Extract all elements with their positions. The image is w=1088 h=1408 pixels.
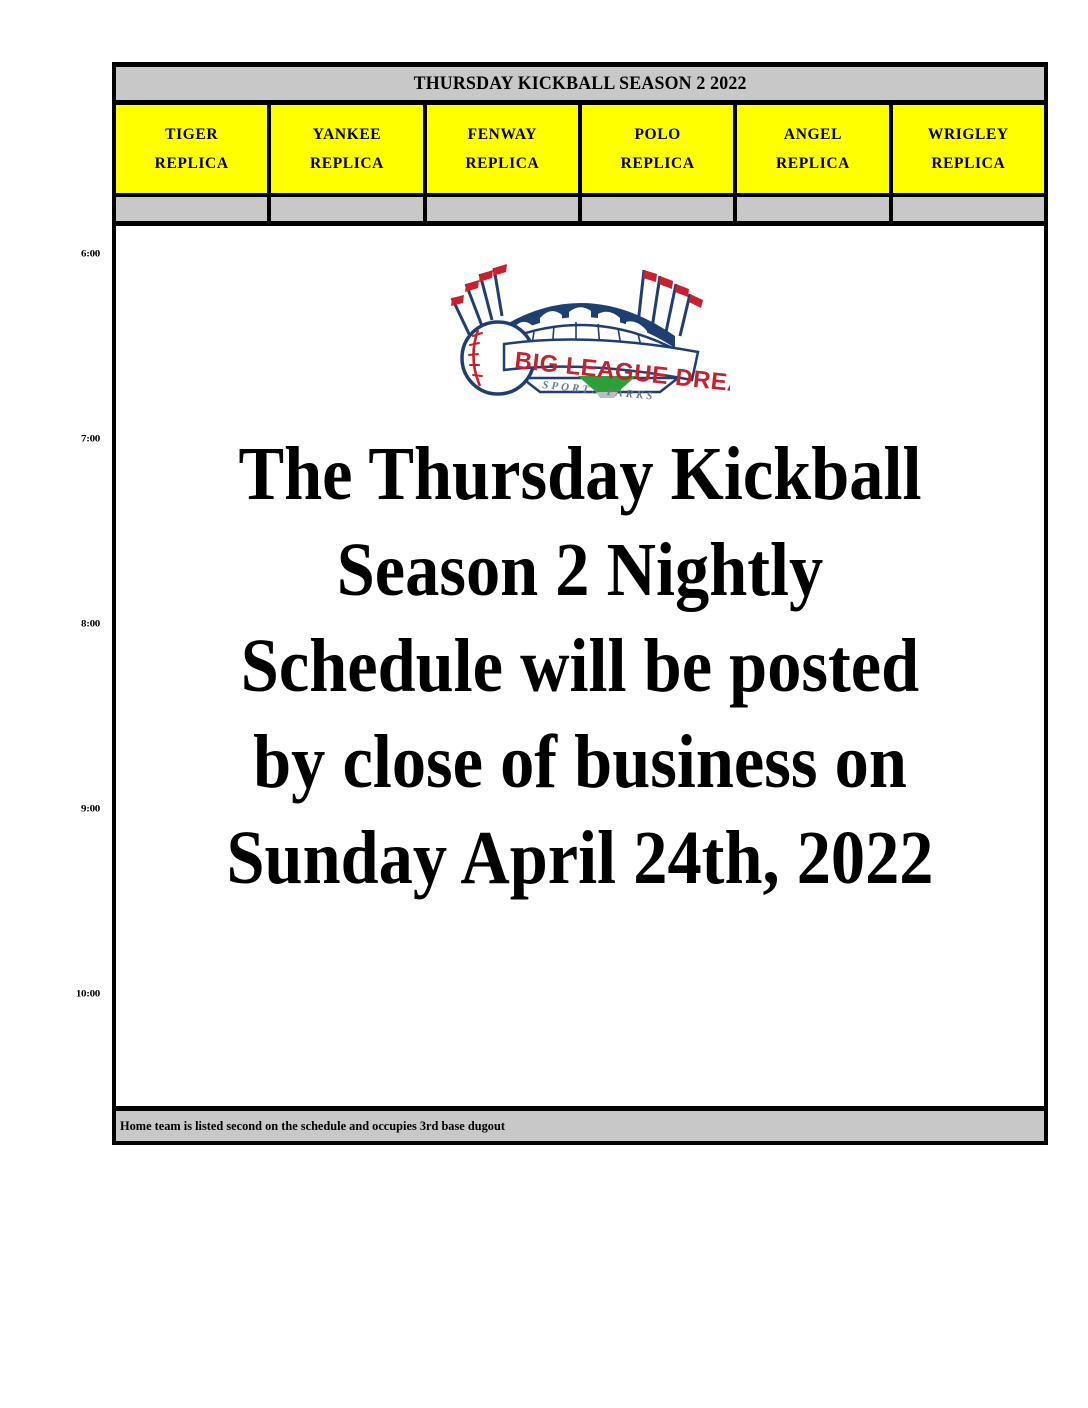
announcement-line: Season 2 Nightly xyxy=(170,522,991,618)
time-label: 10:00 xyxy=(76,989,100,1000)
footer-note-row: Home team is listed second on the schedu… xyxy=(116,1106,1044,1141)
schedule-table: THURSDAY KICKBALL SEASON 2 2022 TIGERREP… xyxy=(112,62,1048,1145)
field-header-fenway[interactable]: FENWAYREPLICA xyxy=(427,105,582,193)
field-name: TIGER xyxy=(165,127,218,143)
field-name: YANKEE xyxy=(313,127,382,143)
field-subheader-polo xyxy=(582,197,737,221)
time-label: 9:00 xyxy=(81,804,100,815)
big-league-dreams-logo-icon: BIG LEAGUE DREAMS SPORTS PARKS xyxy=(430,240,730,400)
field-type: REPLICA xyxy=(465,156,539,172)
field-subheader-row xyxy=(116,197,1044,226)
announcement-message: The Thursday KickballSeason 2 NightlySch… xyxy=(124,426,1036,906)
field-type: REPLICA xyxy=(155,156,229,172)
logo-container: BIG LEAGUE DREAMS SPORTS PARKS xyxy=(116,240,1044,400)
announcement-line: Schedule will be posted xyxy=(170,618,991,714)
field-header-wrigley[interactable]: WRIGLEYREPLICA xyxy=(893,105,1044,193)
announcement-line: Sunday April 24th, 2022 xyxy=(170,810,991,906)
field-type: REPLICA xyxy=(310,156,384,172)
field-name: ANGEL xyxy=(784,127,842,143)
field-subheader-fenway xyxy=(427,197,582,221)
time-axis-gutter: 6:007:008:009:0010:00 xyxy=(0,215,112,1115)
field-subheader-yankee xyxy=(271,197,426,221)
field-header-polo[interactable]: POLOREPLICA xyxy=(582,105,737,193)
time-label: 8:00 xyxy=(81,619,100,630)
field-header-row: TIGERREPLICAYANKEEREPLICAFENWAYREPLICAPO… xyxy=(116,105,1044,197)
field-header-tiger[interactable]: TIGERREPLICA xyxy=(116,105,271,193)
announcement-line: The Thursday Kickball xyxy=(170,426,991,522)
field-type: REPLICA xyxy=(931,156,1005,172)
announcement-line: by close of business on xyxy=(170,714,991,810)
field-type: REPLICA xyxy=(621,156,695,172)
field-subheader-angel xyxy=(737,197,892,221)
field-subheader-wrigley xyxy=(893,197,1044,221)
time-label: 6:00 xyxy=(81,249,100,260)
field-name: WRIGLEY xyxy=(928,127,1009,143)
page-title: THURSDAY KICKBALL SEASON 2 2022 xyxy=(413,73,746,95)
field-subheader-tiger xyxy=(116,197,271,221)
home-team-note: Home team is listed second on the schedu… xyxy=(120,1118,505,1134)
schedule-body: BIG LEAGUE DREAMS SPORTS PARKS The Thurs… xyxy=(116,226,1044,1106)
field-header-yankee[interactable]: YANKEEREPLICA xyxy=(271,105,426,193)
schedule-title-bar: THURSDAY KICKBALL SEASON 2 2022 xyxy=(116,67,1044,105)
field-name: POLO xyxy=(634,127,680,143)
field-type: REPLICA xyxy=(776,156,850,172)
time-label: 7:00 xyxy=(81,434,100,445)
field-header-angel[interactable]: ANGELREPLICA xyxy=(737,105,892,193)
field-name: FENWAY xyxy=(468,127,537,143)
